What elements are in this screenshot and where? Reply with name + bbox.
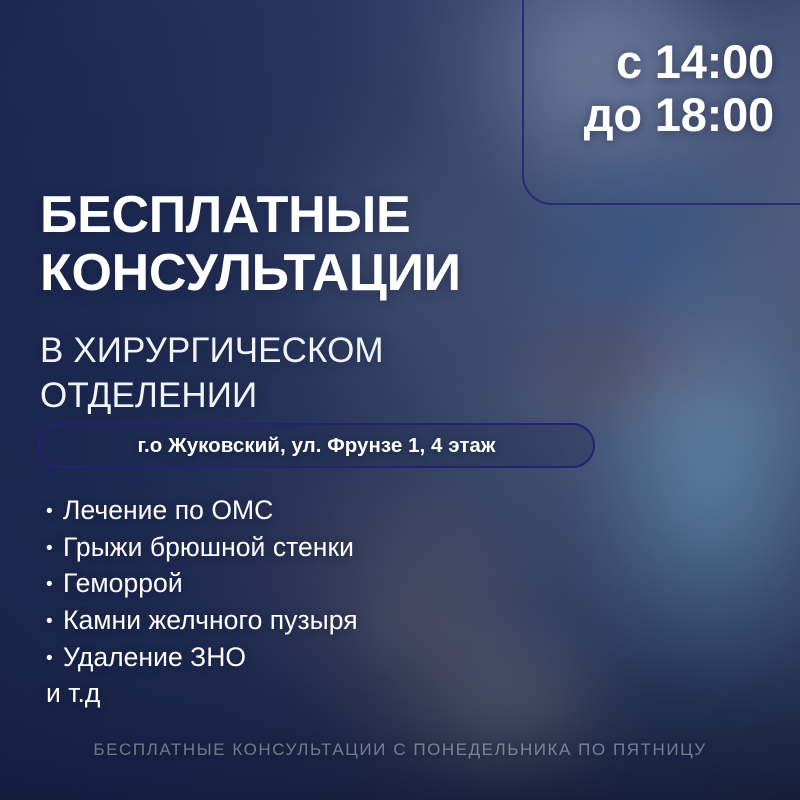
poster-content: с 14:00 до 18:00 БЕСПЛАТНЫЕ КОНСУЛЬТАЦИИ… [0,0,800,800]
list-item: Лечение по ОМС [46,492,566,529]
page-subtitle: В ХИРУРГИЧЕСКОМ ОТДЕЛЕНИИ [40,329,600,419]
promo-poster: с 14:00 до 18:00 БЕСПЛАТНЫЕ КОНСУЛЬТАЦИИ… [0,0,800,800]
headline-line-2: КОНСУЛЬТАЦИИ [40,245,640,303]
services-list: Лечение по ОМСГрыжи брюшной стенкиГеморр… [46,492,566,712]
headline-line-1: БЕСПЛАТНЫЕ [40,187,640,245]
list-item: Геморрой [46,565,566,602]
footer-note: БЕСПЛАТНЫЕ КОНСУЛЬТАЦИИ С ПОНЕДЕЛЬНИКА П… [0,740,800,760]
address-pill: г.о Жуковский, ул. Фрунзе 1, 4 этаж [38,423,595,468]
page-title: БЕСПЛАТНЫЕ КОНСУЛЬТАЦИИ [40,187,640,303]
hours-from-line: с 14:00 [354,36,774,89]
list-item: и т.д [46,675,566,712]
list-item: Камни желчного пузыря [46,602,566,639]
hours-to-line: до 18:00 [354,89,774,142]
list-item: Удаление ЗНО [46,639,566,676]
opening-hours: с 14:00 до 18:00 [354,36,774,141]
subhead-line-2: ОТДЕЛЕНИИ [40,374,600,419]
address-text: г.о Жуковский, ул. Фрунзе 1, 4 этаж [138,434,496,458]
subhead-line-1: В ХИРУРГИЧЕСКОМ [40,329,600,374]
list-item: Грыжи брюшной стенки [46,529,566,566]
